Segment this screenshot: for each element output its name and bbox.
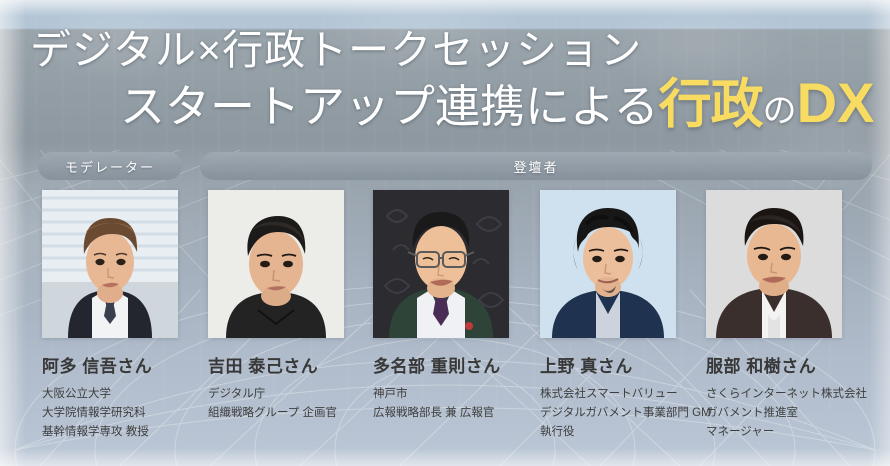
affiliation-line: 神戸市 xyxy=(373,385,523,404)
affiliation-line: ガバメント推進室 xyxy=(706,404,856,423)
label-bar-speakers-text: 登壇者 xyxy=(513,157,558,176)
affiliation-line: 基幹情報学専攻 教授 xyxy=(42,423,192,442)
person-name: 服部 和樹さん xyxy=(706,352,856,377)
label-bar-speakers: 登壇者 xyxy=(200,152,872,180)
affiliation-line: 大学院情報学研究科 xyxy=(42,404,192,423)
person-name: 上野 真さん xyxy=(540,352,690,377)
person-name: 阿多 信吾さん xyxy=(42,352,192,377)
person-affiliation: 神戸市 広報戦略部長 兼 広報官 xyxy=(373,385,523,423)
affiliation-line: デジタルガバメント事業部門 GM xyxy=(540,404,690,423)
person-card: 服部 和樹さん さくらインターネット株式会社 ガバメント推進室 マネージャー xyxy=(690,190,856,442)
affiliation-line: 執行役 xyxy=(540,423,690,442)
affiliation-line: 株式会社スマートバリュー xyxy=(540,385,690,404)
portrait-hattori-kazuki xyxy=(706,190,842,338)
affiliation-line: デジタル庁 xyxy=(208,385,358,404)
people-row: 阿多 信吾さん 大阪公立大学 大学院情報学研究科 基幹情報学専攻 教授 xyxy=(0,190,890,466)
portrait-ueno-makoto xyxy=(540,190,676,338)
affiliation-line: 広報戦略部長 兼 広報官 xyxy=(373,404,523,423)
portrait-tanabe-shigenori xyxy=(373,190,509,338)
person-affiliation: デジタル庁 組織戦略グループ 企画官 xyxy=(208,385,358,423)
label-bar-moderator: モデレーター xyxy=(38,152,182,180)
affiliation-line: 大阪公立大学 xyxy=(42,385,192,404)
person-card: 多名部 重則さん 神戸市 広報戦略部長 兼 広報官 xyxy=(357,190,523,423)
person-card: 吉田 泰己さん デジタル庁 組織戦略グループ 企画官 xyxy=(192,190,358,423)
person-card: 阿多 信吾さん 大阪公立大学 大学院情報学研究科 基幹情報学専攻 教授 xyxy=(26,190,192,442)
affiliation-line: マネージャー xyxy=(706,423,856,442)
affiliation-line: 組織戦略グループ 企画官 xyxy=(208,404,358,423)
person-card: 上野 真さん 株式会社スマートバリュー デジタルガバメント事業部門 GM 執行役 xyxy=(524,190,690,442)
person-affiliation: 株式会社スマートバリュー デジタルガバメント事業部門 GM 執行役 xyxy=(540,385,690,442)
person-name: 吉田 泰己さん xyxy=(208,352,358,377)
affiliation-line: さくらインターネット株式会社 xyxy=(706,385,856,404)
person-name: 多名部 重則さん xyxy=(373,352,523,377)
portrait-yoshida-hiroki xyxy=(208,190,344,338)
event-banner: デジタル×行政トークセッション スタートアップ連携による行政のDX モデレーター… xyxy=(0,0,890,466)
portrait-ata-shingo xyxy=(42,190,178,338)
person-affiliation: さくらインターネット株式会社 ガバメント推進室 マネージャー xyxy=(706,385,856,442)
label-bar-moderator-text: モデレーター xyxy=(65,157,155,176)
person-affiliation: 大阪公立大学 大学院情報学研究科 基幹情報学専攻 教授 xyxy=(42,385,192,442)
